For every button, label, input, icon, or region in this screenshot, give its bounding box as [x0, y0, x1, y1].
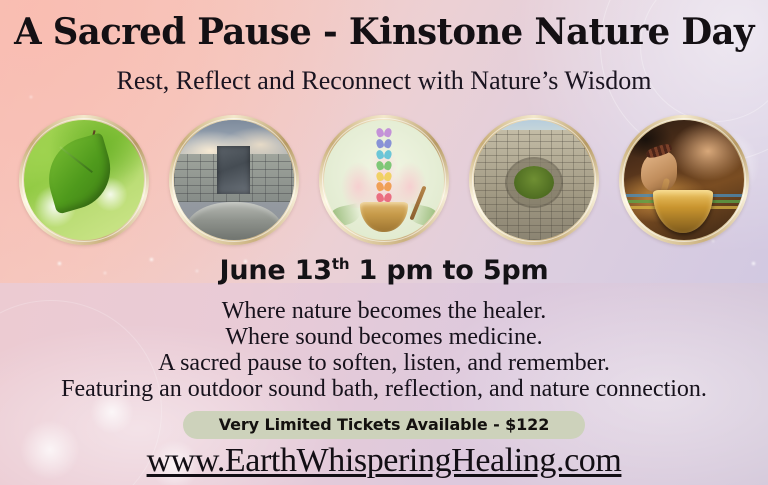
- event-date-time: June 13th 1 pm to 5pm: [0, 257, 768, 284]
- sound-therapy-image-content: [624, 120, 744, 240]
- flyer-canvas: A Sacred Pause - Kinstone Nature Day Res…: [0, 0, 768, 485]
- altar-round-base: [186, 202, 282, 240]
- green-birch-leaf-photo: [19, 115, 149, 245]
- fern-left: [327, 203, 361, 228]
- description-line: Where sound becomes medicine.: [0, 324, 768, 350]
- description-line: A sacred pause to soften, listen, and re…: [0, 350, 768, 376]
- date-time-range: 1 pm to 5pm: [349, 255, 548, 286]
- website-link[interactable]: www.EarthWhisperingHealing.com: [0, 444, 768, 478]
- butterfly-crown-icon: [377, 128, 392, 137]
- butterfly-solar-icon: [377, 172, 392, 181]
- description-line: Featuring an outdoor sound bath, reflect…: [0, 376, 768, 402]
- lotus-chakra-butterflies-illustration: [319, 115, 449, 245]
- butterfly-heart-icon: [377, 161, 392, 170]
- date-prefix: June 13: [220, 255, 332, 286]
- date-ordinal-suffix: th: [332, 255, 349, 273]
- singing-bowl-sound-therapy-photo: [619, 115, 749, 245]
- description-block: Where nature becomes the healer. Where s…: [0, 298, 768, 402]
- kinstone-image-content: [474, 120, 594, 240]
- butterfly-sacral-icon: [377, 182, 392, 191]
- lotus-image-content: [324, 120, 444, 240]
- leaf-blade: [39, 133, 120, 215]
- page-subtitle: Rest, Reflect and Reconnect with Nature’…: [0, 68, 768, 94]
- butterfly-root-icon: [377, 193, 392, 202]
- description-line: Where nature becomes the healer.: [0, 298, 768, 324]
- altar-image-content: [174, 120, 294, 240]
- kinstone-circle-wall-photo: [469, 115, 599, 245]
- leaf-image-content: [24, 120, 144, 240]
- page-title: A Sacred Pause - Kinstone Nature Day: [6, 14, 762, 50]
- lotus-singing-bowl: [360, 202, 408, 232]
- stone-altar-photo: [169, 115, 299, 245]
- photo-circle-row: [0, 106, 768, 254]
- butterfly-throat-icon: [377, 150, 392, 159]
- therapist-hand: [641, 151, 677, 192]
- sparkle-dot: [30, 96, 32, 98]
- status-badge: Very Limited Tickets Available - $122: [183, 411, 586, 439]
- altar-upright-slab: [217, 146, 249, 194]
- butterfly-third-eye-icon: [377, 139, 392, 148]
- tickets-banner-wrap: Very Limited Tickets Available - $122: [0, 411, 768, 439]
